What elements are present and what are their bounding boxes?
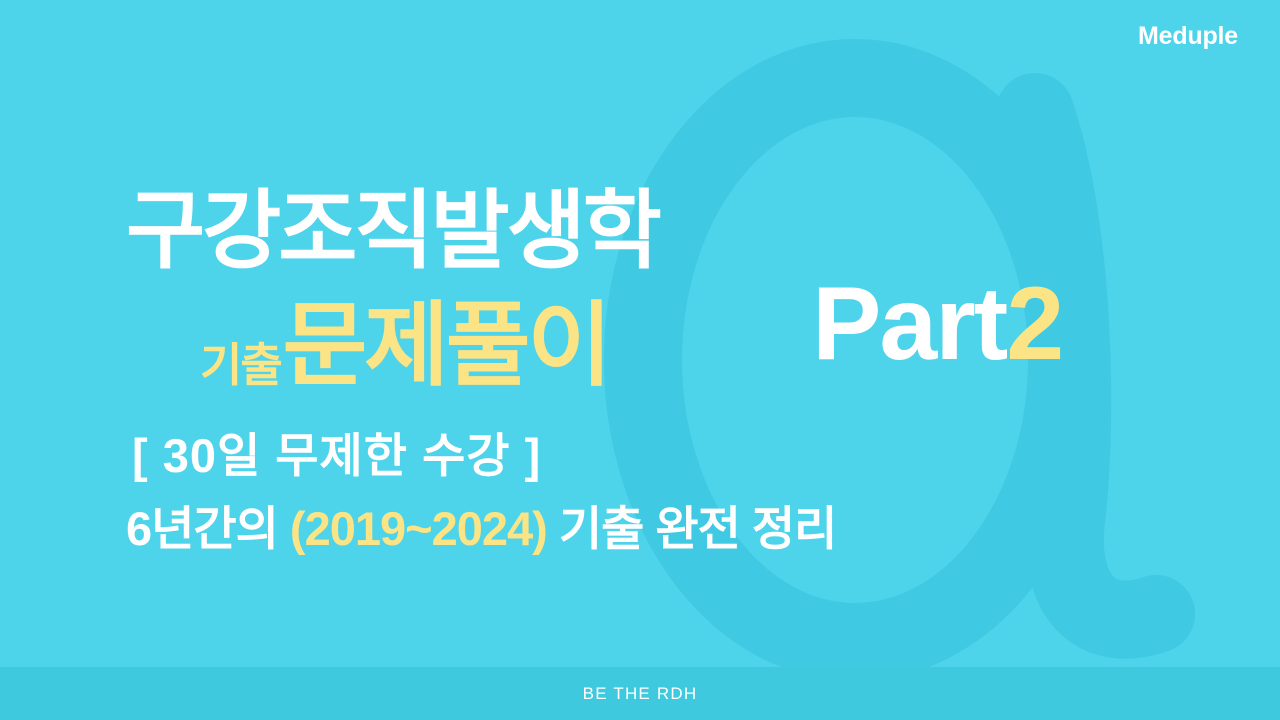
course-subtitle-small: 기출 <box>200 342 281 392</box>
coverage-suffix: 기출 완전 정리 <box>547 502 837 555</box>
part-badge: Part2 <box>812 272 1062 376</box>
coverage-note: 6년간의 (2019~2024) 기출 완전 정리 <box>126 505 836 552</box>
coverage-prefix: 6년간의 <box>126 502 290 555</box>
footer-band: BE THE RDH <box>0 667 1280 720</box>
course-subtitle-large: 문제풀이 <box>283 300 610 392</box>
footer-tagline: BE THE RDH <box>583 684 698 704</box>
part-number: 2 <box>1006 266 1062 382</box>
coverage-years: (2019~2024) <box>290 502 547 555</box>
course-subtitle: 기출 문제풀이 <box>200 300 609 392</box>
banner-canvas: Meduple 구강조직발생학 기출 문제풀이 Part2 [ 30일 무제한 … <box>0 0 1280 720</box>
headline-block: 구강조직발생학 기출 문제풀이 Part2 [ 30일 무제한 수강 ] 6년간… <box>0 0 1280 720</box>
duration-note: [ 30일 무제한 수강 ] <box>132 432 541 479</box>
part-label: Part <box>812 266 1006 382</box>
course-title: 구강조직발생학 <box>126 188 659 274</box>
